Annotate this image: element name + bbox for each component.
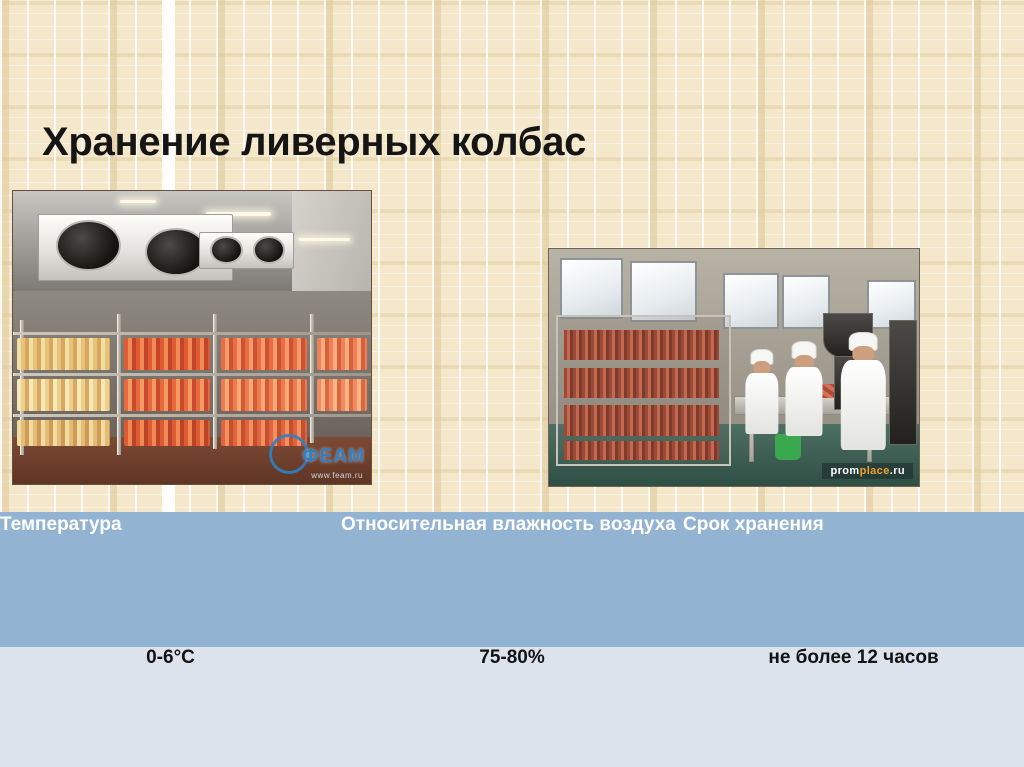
sausage-row [17,420,110,446]
machine-column [889,320,917,445]
watermark-prefix: prom [830,465,859,477]
watermark-feam: ФЕАМ [303,446,365,468]
watermark-feam-url: www.feam.ru [311,471,363,480]
worker [745,349,778,434]
worker [841,332,885,451]
fan-icon [253,236,286,263]
sausage-row [221,338,307,370]
ceiling-lamp-icon [120,200,156,203]
fan-icon [56,220,121,271]
cell-humidity-value: 75-80% [341,647,683,767]
rack-shelf [13,373,372,376]
watermark-suffix: .ru [890,465,905,477]
table-header-row: Температура Относительная влажность возд… [0,512,1024,647]
fan-icon [210,236,243,263]
sausage-row [564,368,719,399]
rack-shelf [13,332,372,335]
window [630,261,697,322]
sausage-row [317,338,367,370]
cell-shelf-life-value: не более 12 часов [683,647,1024,767]
face [853,346,874,361]
watermark-highlight: place [860,465,890,477]
sausage-row [564,330,719,361]
rack-post [117,314,121,455]
photo-factory-workers: promplace.ru [548,248,920,487]
column-header-humidity: Относительная влажность воздуха [341,512,683,647]
column-header-temperature: Температура [0,512,341,647]
slide-canvas: Хранение ливерных колбас [0,0,1024,767]
table-row: 0-6°C 75-80% не более 12 часов [0,647,1024,767]
cell-temperature-value: 0-6°C [0,647,341,767]
window [560,258,623,319]
worker [786,341,823,436]
rack-shelf [13,414,372,417]
column-header-shelf-life: Срок хранения [683,512,1024,647]
white-coat [841,360,885,450]
sausage-row [564,405,719,436]
sausage-row [124,379,210,411]
white-coat [786,367,823,436]
sausage-row [124,338,210,370]
sausage-row [317,379,367,411]
sausage-row [124,420,210,446]
sausage-row [17,379,110,411]
bucket [775,434,801,460]
page-title: Хранение ливерных колбас [42,120,586,165]
photo-cold-storage: ФЕАМ www.feam.ru [12,190,372,485]
window [723,273,779,329]
storage-conditions-table: Температура Относительная влажность возд… [0,512,1024,767]
ceiling-lamp-icon [299,238,349,241]
watermark-promplace: promplace.ru [822,463,913,479]
sausage-row [17,338,110,370]
fan-icon [145,228,206,276]
sausage-row [564,441,719,460]
white-coat [745,373,778,434]
sausage-row [221,379,307,411]
